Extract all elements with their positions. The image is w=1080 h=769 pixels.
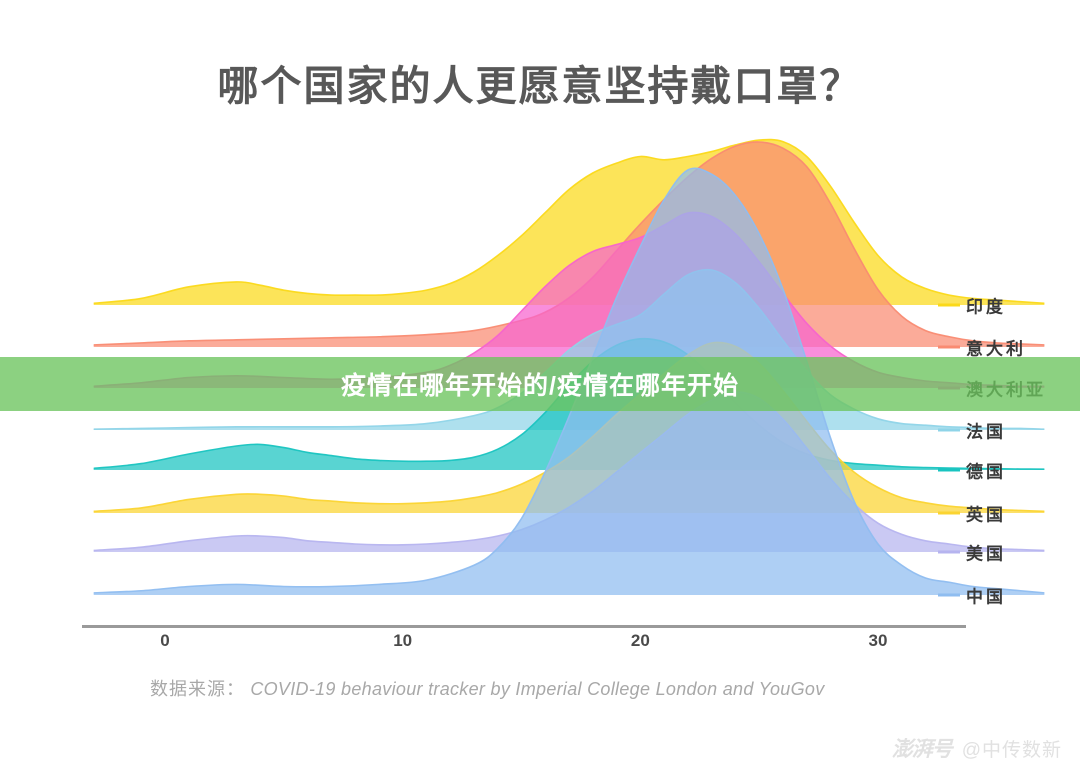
watermark-handle: @中传数新 xyxy=(962,735,1062,762)
x-tick-label-30: 30 xyxy=(869,631,888,651)
source-prefix: 数据来源： xyxy=(150,679,245,699)
row-label-英国: 英国 xyxy=(966,501,1006,526)
source-note: 数据来源： COVID-19 behaviour tracker by Impe… xyxy=(150,675,825,701)
page-title: 哪个国家的人更愿意坚持戴口罩？ xyxy=(0,52,1080,112)
row-color-tick-法国 xyxy=(938,429,960,432)
source-text: COVID-19 behaviour tracker by Imperial C… xyxy=(250,679,824,699)
x-tick-label-0: 0 xyxy=(160,631,169,651)
row-label-美国: 美国 xyxy=(966,540,1006,565)
overlay-banner-text: 疫情在哪年开始的/疫情在哪年开始 xyxy=(341,366,739,402)
row-label-中国: 中国 xyxy=(966,583,1006,608)
row-label-法国: 法国 xyxy=(966,418,1006,443)
row-color-tick-中国 xyxy=(938,594,960,597)
row-label-意大利: 意大利 xyxy=(966,335,1026,360)
x-tick-label-10: 10 xyxy=(393,631,412,651)
row-color-tick-意大利 xyxy=(938,346,960,349)
row-color-tick-英国 xyxy=(938,512,960,515)
chart-figure: 哪个国家的人更愿意坚持戴口罩？ 0102030 印度意大利澳大利亚法国德国英国美… xyxy=(0,0,1080,769)
pengpai-logo: 澎湃号 xyxy=(892,733,952,763)
row-color-tick-美国 xyxy=(938,551,960,554)
row-label-德国: 德国 xyxy=(966,458,1006,483)
x-tick-label-20: 20 xyxy=(631,631,650,651)
row-label-印度: 印度 xyxy=(966,293,1006,318)
row-color-tick-德国 xyxy=(938,469,960,472)
x-axis-line xyxy=(82,625,966,628)
row-color-tick-印度 xyxy=(938,304,960,307)
watermark: 澎湃号 @中传数新 xyxy=(892,733,1062,763)
overlay-banner: 疫情在哪年开始的/疫情在哪年开始 xyxy=(0,357,1080,411)
